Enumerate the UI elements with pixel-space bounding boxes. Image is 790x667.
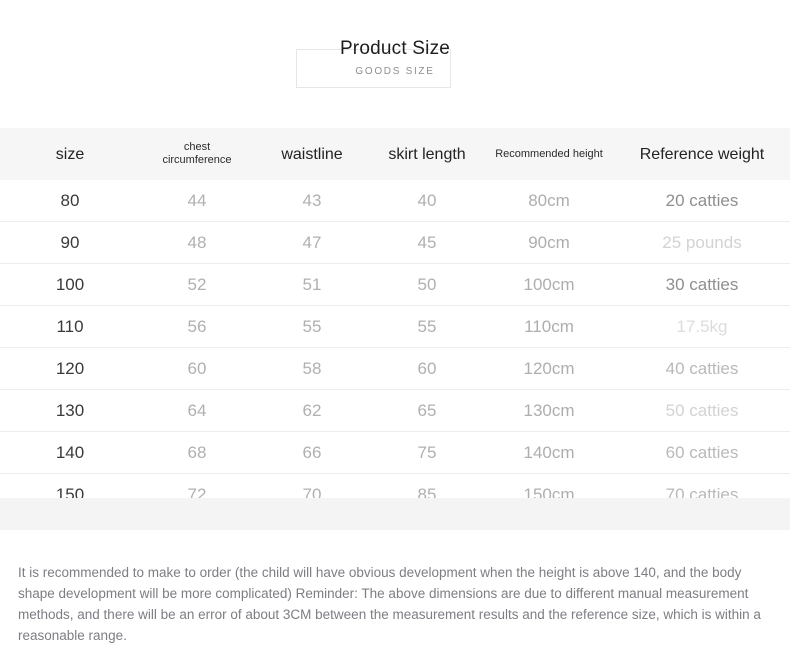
table-row: 140686675140cm60 catties [0,432,790,474]
cell-skirt-length: 50 [370,264,484,306]
cell-recommended-height: 120cm [484,348,614,390]
cell-waistline: 43 [254,180,370,222]
column-header-chest-circumference: chest circumference [140,128,254,180]
size-chart-table: size chest circumference waistline skirt… [0,128,790,515]
cell-reference-weight: 40 catties [614,348,790,390]
cell-reference-weight: 60 catties [614,432,790,474]
column-header-size: size [0,128,140,180]
cell-recommended-height: 110cm [484,306,614,348]
cell-chest-circumference: 56 [140,306,254,348]
cell-waistline: 47 [254,222,370,264]
cell-recommended-height: 90cm [484,222,614,264]
cell-skirt-length: 55 [370,306,484,348]
cell-waistline: 66 [254,432,370,474]
cell-chest-circumference: 60 [140,348,254,390]
page-subtitle: GOODS SIZE [0,64,790,80]
cell-skirt-length: 60 [370,348,484,390]
cell-reference-weight: 20 catties [614,180,790,222]
table-row: 120605860120cm40 catties [0,348,790,390]
cell-recommended-height: 100cm [484,264,614,306]
cell-size: 110 [0,306,140,348]
column-header-waistline: waistline [254,128,370,180]
cell-chest-circumference: 52 [140,264,254,306]
cell-recommended-height: 140cm [484,432,614,474]
table-header-row: size chest circumference waistline skirt… [0,128,790,180]
cell-reference-weight: 17.5kg [614,306,790,348]
cell-recommended-height: 130cm [484,390,614,432]
cell-size: 130 [0,390,140,432]
table-footer-band [0,498,790,530]
table-body: 8044434080cm20 catties9048474590cm25 pou… [0,180,790,515]
cell-waistline: 51 [254,264,370,306]
column-header-skirt-length: skirt length [370,128,484,180]
cell-size: 140 [0,432,140,474]
cell-chest-circumference: 44 [140,180,254,222]
cell-size: 100 [0,264,140,306]
cell-size: 80 [0,180,140,222]
cell-chest-circumference: 64 [140,390,254,432]
cell-skirt-length: 65 [370,390,484,432]
table-row: 130646265130cm50 catties [0,390,790,432]
column-header-recommended-height: Recommended height [484,128,614,180]
cell-waistline: 55 [254,306,370,348]
cell-waistline: 58 [254,348,370,390]
cell-chest-circumference: 48 [140,222,254,264]
cell-reference-weight: 50 catties [614,390,790,432]
table-row: 8044434080cm20 catties [0,180,790,222]
column-header-chest-line1: chest [184,141,210,153]
cell-skirt-length: 75 [370,432,484,474]
table-row: 9048474590cm25 pounds [0,222,790,264]
cell-reference-weight: 25 pounds [614,222,790,264]
table-row: 100525150100cm30 catties [0,264,790,306]
cell-reference-weight: 30 catties [614,264,790,306]
column-header-chest-line2: circumference [162,154,231,166]
cell-size: 90 [0,222,140,264]
cell-skirt-length: 45 [370,222,484,264]
column-header-reference-weight: Reference weight [614,128,790,180]
page-title: Product Size [0,36,790,62]
footer-note: It is recommended to make to order (the … [18,562,776,646]
title-section: Product Size GOODS SIZE [0,0,790,128]
cell-chest-circumference: 68 [140,432,254,474]
cell-recommended-height: 80cm [484,180,614,222]
cell-size: 120 [0,348,140,390]
table-row: 110565555110cm17.5kg [0,306,790,348]
cell-waistline: 62 [254,390,370,432]
cell-skirt-length: 40 [370,180,484,222]
